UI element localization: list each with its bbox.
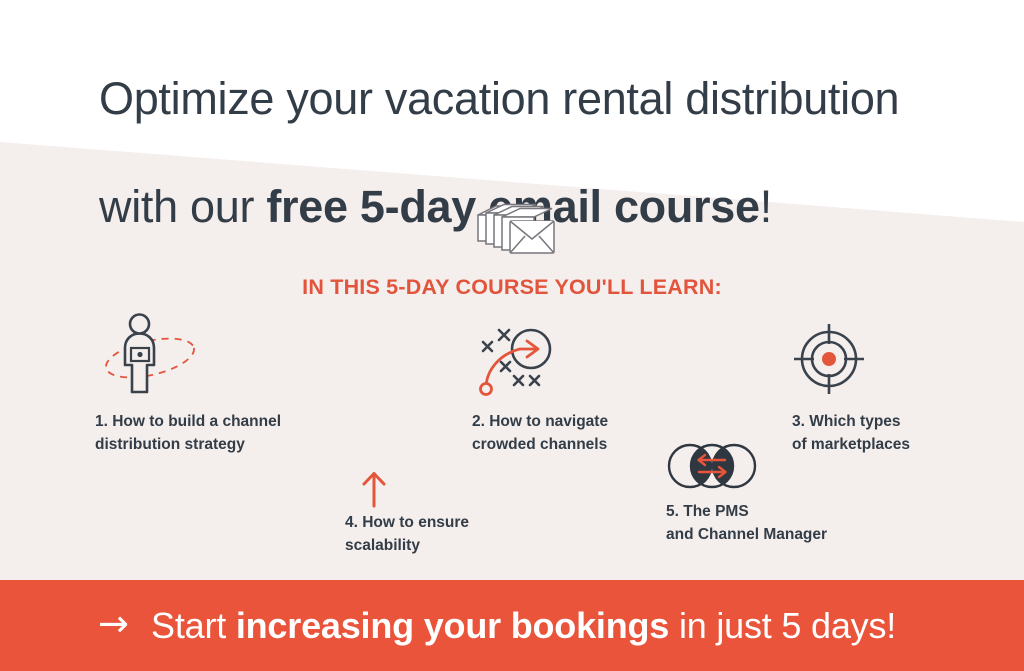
list-item-label: 4. How to ensure scalability xyxy=(345,511,565,557)
section-subtitle: IN THIS 5-DAY COURSE YOU'LL LEARN: xyxy=(0,275,1024,300)
crosshair-target-icon xyxy=(790,320,868,398)
poster-canvas: Optimize your vacation rental distributi… xyxy=(0,0,1024,671)
cta-text-emphasis: increasing your bookings xyxy=(236,605,669,646)
list-item-label: 5. The PMS and Channel Manager xyxy=(666,500,896,546)
strategy-arrow-icon xyxy=(470,318,560,398)
right-arrow-icon: → xyxy=(98,605,129,642)
headline-line-1: Optimize your vacation rental distributi… xyxy=(99,72,979,126)
person-with-orbit-icon xyxy=(98,312,198,397)
headline-line-2-suffix: ! xyxy=(760,181,772,232)
venn-diagram-exchange-icon xyxy=(663,440,761,492)
list-item-label: 1. How to build a channel distribution s… xyxy=(95,410,345,456)
up-arrow-icon xyxy=(355,470,395,508)
cta-text-suffix: in just 5 days! xyxy=(669,605,896,646)
cta-text-prefix: Start xyxy=(151,605,236,646)
envelope-stack-icon xyxy=(470,203,565,263)
cta-content: → Start increasing your bookings in just… xyxy=(98,606,896,646)
list-item-label: 3. Which types of marketplaces xyxy=(792,410,1012,456)
headline-line-2-prefix: with our xyxy=(99,181,266,232)
cta-text: Start increasing your bookings in just 5… xyxy=(151,606,896,646)
cta-banner[interactable]: → Start increasing your bookings in just… xyxy=(0,580,1024,671)
